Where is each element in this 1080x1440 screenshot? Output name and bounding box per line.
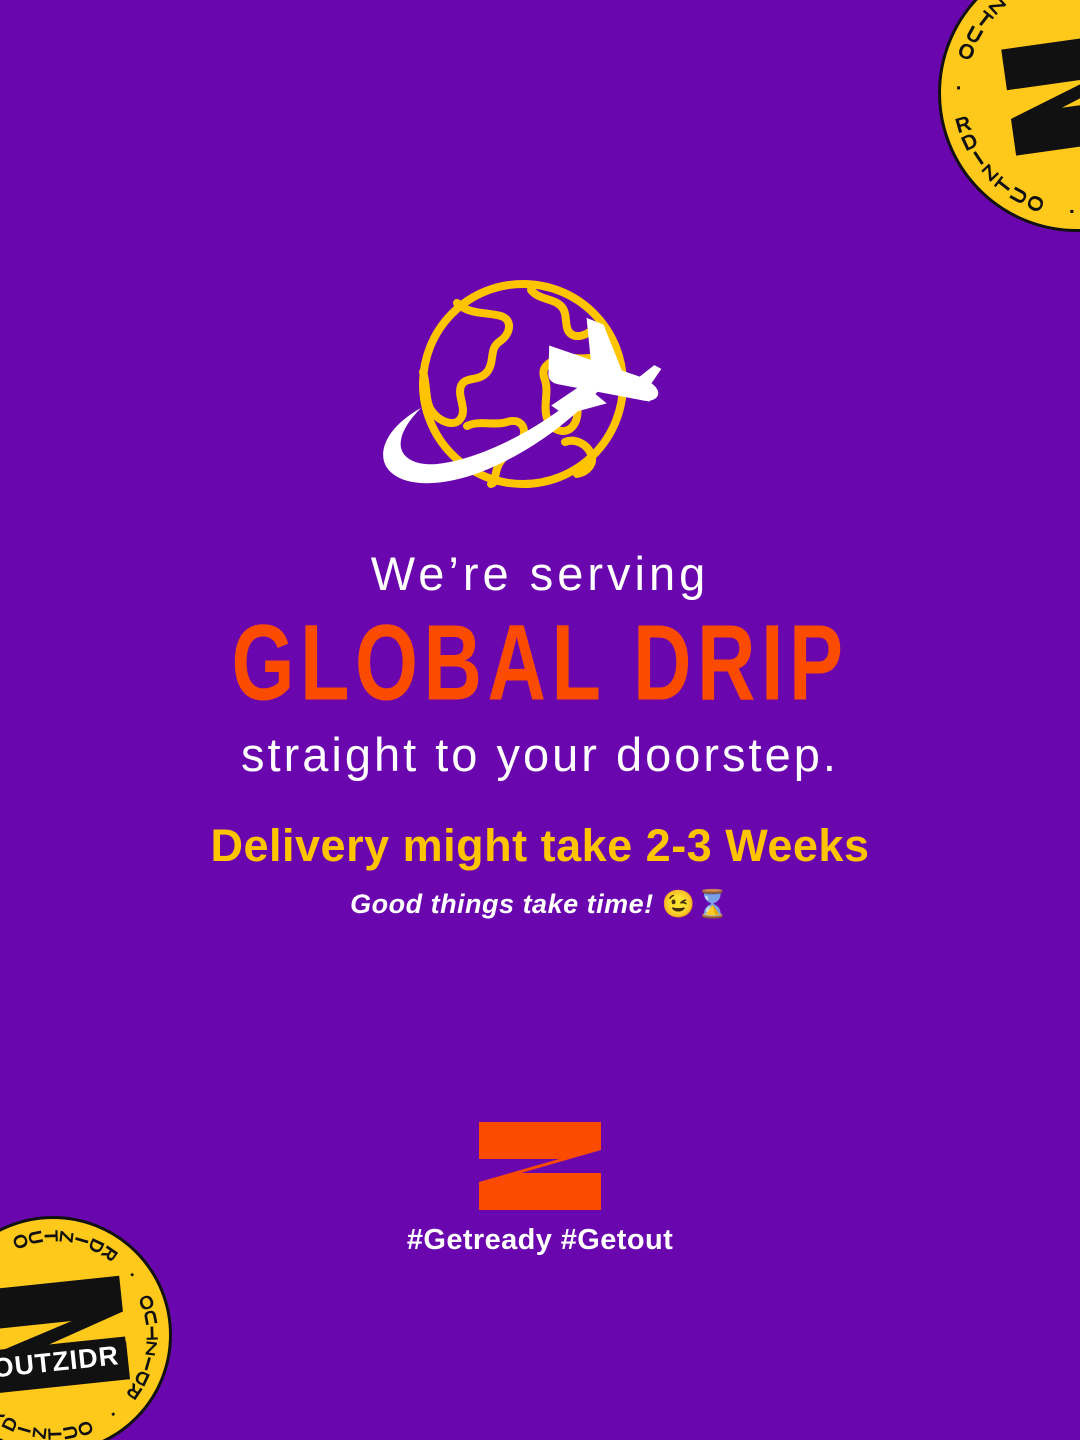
badge-ring-char: I [999,0,1022,4]
z-logo-icon [479,1122,601,1210]
globe-icon [365,276,715,504]
poster-canvas: OUTZIDR · OUTZIDR · OUTZIDR · OUTZIDR · … [0,0,1080,1440]
wink-hourglass-emoji: 😉⌛ [662,889,730,919]
delivery-subnote: Good things take time! 😉⌛ [0,888,1080,920]
headline-block: We’re serving GLOBAL DRIP straight to yo… [0,548,1080,781]
badge-top-right: OUTZIDR · OUTZIDR · OUTZIDR · OUTZIDR · [938,0,1080,232]
delivery-notice-block: Delivery might take 2-3 Weeks Good thing… [0,820,1080,920]
headline-line-1: We’re serving [0,548,1080,601]
delivery-notice: Delivery might take 2-3 Weeks [0,820,1080,872]
badge-ring-char [90,1414,112,1429]
footer-hashtags: #Getready #Getout [0,1224,1080,1257]
delivery-subnote-text: Good things take time! [350,889,654,919]
badge-emblem-top-right [995,26,1080,161]
footer-block: #Getready #Getout [0,1122,1080,1257]
badge-emblem-bottom-left: OUTZIDR [0,1271,134,1398]
headline-line-3: straight to your doorstep. [0,729,1080,782]
globe-airplane-illustration [365,276,715,504]
headline-line-2: GLOBAL DRIP [43,609,1037,716]
z-logo-icon [995,26,1080,161]
